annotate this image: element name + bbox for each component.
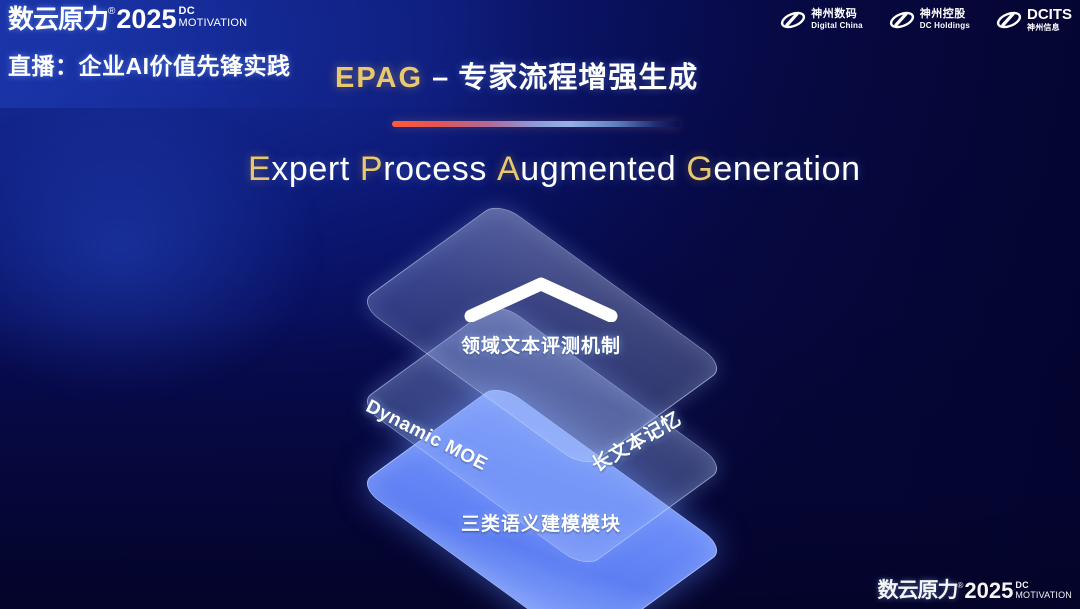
registered-mark: ® <box>108 6 115 18</box>
presentation-slide: 数云原力 ® 2025 DC MOTIVATION 直播：企业AI价值先锋实践 … <box>0 0 1080 609</box>
watermark-dc-label: DC <box>1015 581 1072 590</box>
english-word-4-capital: G <box>686 150 713 188</box>
swirl-logo-icon <box>996 9 1022 31</box>
partner-name-en: DCITS <box>1027 7 1072 23</box>
slide-title-english: Expert Process Augmented Generation <box>248 150 861 189</box>
english-word-1-capital: E <box>248 150 271 188</box>
english-word-3-capital: A <box>497 150 520 188</box>
english-word-1-rest: xpert <box>271 150 350 188</box>
brand-year: 2025 <box>116 4 176 34</box>
title-dash: – <box>423 62 458 94</box>
slide-title-chinese: EPAG – 专家流程增强生成 <box>335 54 698 96</box>
layered-stack-diagram: 领域文本评测机制 Dynamic MOE 长文本记忆 三类语义建模模块 <box>296 228 786 558</box>
partner-logo-dc-holdings: 神州控股 DC Holdings <box>889 9 970 31</box>
partner-label-dc-holdings: 神州控股 DC Holdings <box>920 9 970 30</box>
partner-label-dcits: DCITS 神州信息 <box>1027 7 1072 32</box>
partner-name-cn: 神州控股 <box>920 9 970 21</box>
brand-name-cn: 数云原力 <box>8 4 108 34</box>
swirl-logo-icon <box>889 9 915 31</box>
brand-logo: 数云原力 ® 2025 DC MOTIVATION <box>8 4 247 34</box>
english-word-2-capital: P <box>360 150 383 188</box>
watermark-motivation-label: MOTIVATION <box>1015 591 1072 600</box>
partner-logo-digital-china: 神州数码 Digital China <box>780 9 863 31</box>
brand-dc-motivation: DC MOTIVATION <box>178 6 247 29</box>
title-acronym: EPAG <box>335 62 423 94</box>
watermark-registered-mark: ® <box>957 581 963 591</box>
live-subtitle: 直播：企业AI价值先锋实践 <box>8 47 291 81</box>
brand-motivation-label: MOTIVATION <box>178 18 247 29</box>
swirl-logo-icon <box>780 9 806 31</box>
title-chinese-text: 专家流程增强生成 <box>458 62 698 94</box>
english-word-4-rest: eneration <box>713 150 860 188</box>
watermark-name-cn: 数云原力 <box>877 579 957 603</box>
english-word-2-rest: rocess <box>383 150 487 188</box>
brand-dc-label: DC <box>178 6 247 17</box>
footer-watermark: 数云原力 ® 2025 DC MOTIVATION <box>877 579 1072 603</box>
partner-name-cn: 神州信息 <box>1027 24 1072 32</box>
partner-logo-dcits: DCITS 神州信息 <box>996 7 1072 32</box>
title-accent-bar <box>392 121 680 127</box>
watermark-dc-motivation: DC MOTIVATION <box>1015 581 1072 600</box>
partner-logo-group: 神州数码 Digital China 神州控股 DC Holdings DCIT… <box>780 7 1072 32</box>
partner-name-en: Digital China <box>811 22 863 30</box>
english-word-3-rest: ugmented <box>520 150 676 188</box>
watermark-year: 2025 <box>964 579 1013 603</box>
partner-label-digital-china: 神州数码 Digital China <box>811 9 863 30</box>
partner-name-en: DC Holdings <box>920 22 970 30</box>
partner-name-cn: 神州数码 <box>811 9 863 21</box>
